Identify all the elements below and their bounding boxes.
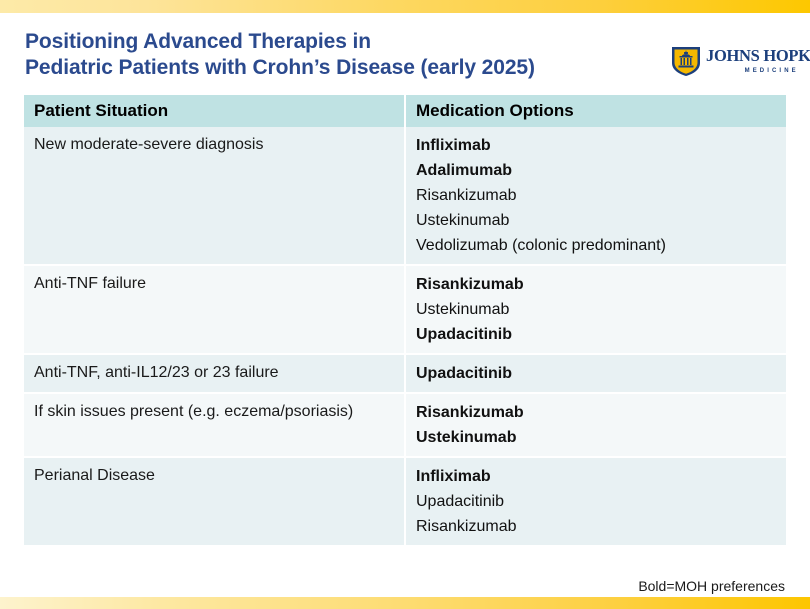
medication-item: Upadacitinib xyxy=(416,489,778,514)
situation-text: New moderate-severe diagnosis xyxy=(34,133,396,157)
table-header-label-medications: Medication Options xyxy=(416,100,778,122)
medication-item: Risankizumab xyxy=(416,400,778,425)
situation-text: Anti-TNF, anti-IL12/23 or 23 failure xyxy=(34,361,396,385)
table-cell-medications: RisankizumabUstekinumabUpadacitinib xyxy=(406,266,786,353)
table-header-cell-medications: Medication Options xyxy=(406,95,786,127)
johns-hopkins-medicine-logo: JOHNS HOPKINS MEDICINE xyxy=(671,41,803,81)
medication-item: Risankizumab xyxy=(416,183,778,208)
logo-name-text: JOHNS HOPKINS xyxy=(706,48,810,65)
table-cell-situation: If skin issues present (e.g. eczema/psor… xyxy=(24,394,404,456)
medication-item: Infliximab xyxy=(416,133,778,158)
table-header-label-situation: Patient Situation xyxy=(34,100,396,122)
table-cell-medications: InfliximabUpadacitinibRisankizumab xyxy=(406,458,786,545)
table-row: Perianal DiseaseInfliximabUpadacitinibRi… xyxy=(24,458,786,545)
medication-item: Ustekinumab xyxy=(416,425,778,450)
table-cell-situation: Anti-TNF, anti-IL12/23 or 23 failure xyxy=(24,355,404,392)
table-cell-situation: New moderate-severe diagnosis xyxy=(24,127,404,264)
logo-wordmark: JOHNS HOPKINS MEDICINE xyxy=(706,48,810,74)
logo-sub-text: MEDICINE xyxy=(706,68,810,74)
medication-item: Vedolizumab (colonic predominant) xyxy=(416,233,778,258)
table-cell-medications: InfliximabAdalimumabRisankizumabUstekinu… xyxy=(406,127,786,264)
situation-text: If skin issues present (e.g. eczema/psor… xyxy=(34,400,396,424)
situation-text: Anti-TNF failure xyxy=(34,272,396,296)
slide-canvas: Positioning Advanced Therapies in Pediat… xyxy=(0,0,810,609)
therapy-positioning-table: Patient Situation Medication Options New… xyxy=(24,95,786,545)
table-cell-situation: Anti-TNF failure xyxy=(24,266,404,353)
medication-item: Ustekinumab xyxy=(416,208,778,233)
table-row: New moderate-severe diagnosisInfliximabA… xyxy=(24,127,786,264)
medication-item: Infliximab xyxy=(416,464,778,489)
medication-item: Risankizumab xyxy=(416,272,778,297)
medication-item: Risankizumab xyxy=(416,514,778,539)
table-cell-medications: RisankizumabUstekinumab xyxy=(406,394,786,456)
table-cell-medications: Upadacitinib xyxy=(406,355,786,392)
bottom-accent-bar xyxy=(0,597,810,609)
medication-item: Upadacitinib xyxy=(416,361,778,386)
table-row: If skin issues present (e.g. eczema/psor… xyxy=(24,394,786,456)
johns-hopkins-shield-icon xyxy=(671,45,701,77)
legend-note: Bold=MOH preferences xyxy=(638,578,785,594)
medication-item: Ustekinumab xyxy=(416,297,778,322)
top-accent-bar xyxy=(0,0,810,13)
table-row: Anti-TNF failureRisankizumabUstekinumabU… xyxy=(24,266,786,353)
table-header-cell-situation: Patient Situation xyxy=(24,95,404,127)
page-title-line-2: Pediatric Patients with Crohn’s Disease … xyxy=(25,55,685,81)
page-title-line-1: Positioning Advanced Therapies in xyxy=(25,29,685,55)
table-header-row: Patient Situation Medication Options xyxy=(24,95,786,127)
medication-item: Upadacitinib xyxy=(416,322,778,347)
table-row: Anti-TNF, anti-IL12/23 or 23 failureUpad… xyxy=(24,355,786,392)
situation-text: Perianal Disease xyxy=(34,464,396,488)
page-title: Positioning Advanced Therapies in Pediat… xyxy=(25,29,685,81)
table-body: New moderate-severe diagnosisInfliximabA… xyxy=(24,127,786,545)
medication-item: Adalimumab xyxy=(416,158,778,183)
table-cell-situation: Perianal Disease xyxy=(24,458,404,545)
